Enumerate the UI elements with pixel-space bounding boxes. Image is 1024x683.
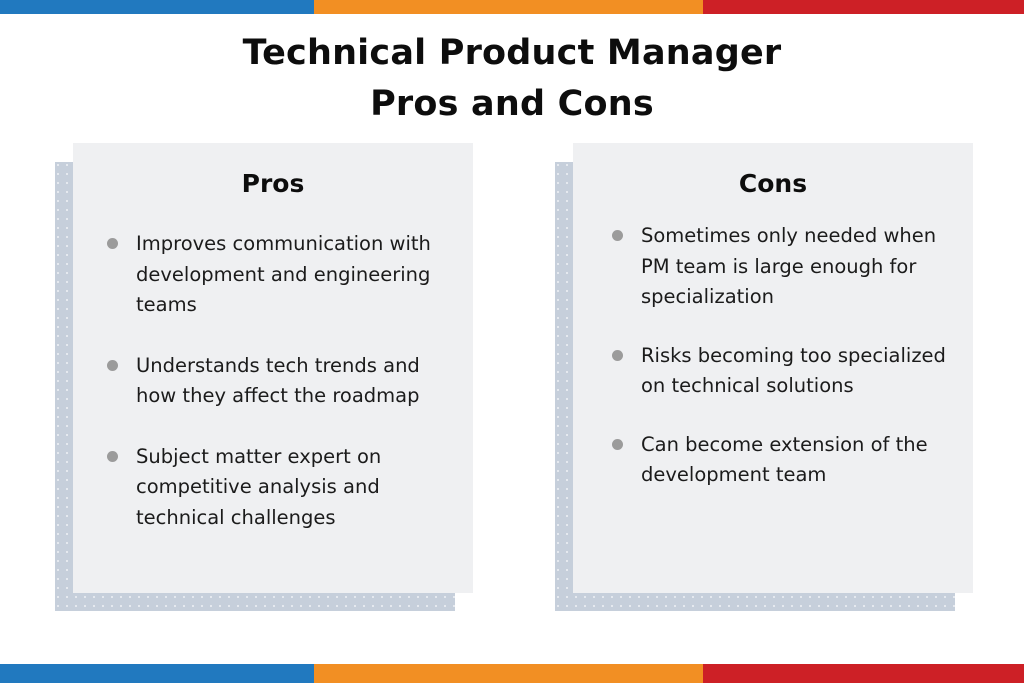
top-bar-red-segment — [703, 0, 1024, 14]
top-bar-orange-segment — [314, 0, 703, 14]
bottom-bar-blue-segment — [0, 664, 314, 683]
list-item: Can become extension of the development … — [606, 430, 958, 491]
pros-bullet-list: Improves communication with development … — [101, 229, 447, 563]
cons-card-body: Cons Sometimes only needed when PM team … — [573, 143, 973, 593]
list-item-label: Understands tech trends and how they aff… — [136, 354, 420, 408]
slide: Technical Product Manager Pros and Cons … — [0, 0, 1024, 683]
list-item: Subject matter expert on competitive ana… — [101, 442, 447, 534]
bullet-dot-icon — [107, 451, 118, 462]
list-item: Sometimes only needed when PM team is la… — [606, 221, 958, 313]
list-item-label: Risks becoming too specialized on techni… — [641, 344, 946, 398]
cons-card: Cons Sometimes only needed when PM team … — [555, 143, 975, 613]
top-bar-blue-segment — [0, 0, 314, 14]
list-item-label: Sometimes only needed when PM team is la… — [641, 224, 936, 308]
list-item: Understands tech trends and how they aff… — [101, 351, 447, 412]
bullet-dot-icon — [612, 230, 623, 241]
list-item-label: Improves communication with development … — [136, 232, 431, 316]
bullet-dot-icon — [107, 238, 118, 249]
list-item-label: Can become extension of the development … — [641, 433, 928, 487]
bullet-dot-icon — [612, 350, 623, 361]
slide-title: Technical Product Manager Pros and Cons — [0, 28, 1024, 130]
slide-title-line-1: Technical Product Manager — [0, 28, 1024, 79]
pros-card-title: Pros — [73, 169, 473, 199]
list-item: Improves communication with development … — [101, 229, 447, 321]
slide-title-line-2: Pros and Cons — [0, 79, 1024, 130]
top-accent-bar — [0, 0, 1024, 14]
cons-bullet-list: Sometimes only needed when PM team is la… — [606, 221, 958, 519]
bottom-bar-orange-segment — [314, 664, 703, 683]
pros-card: Pros Improves communication with develop… — [55, 143, 475, 613]
list-item-label: Subject matter expert on competitive ana… — [136, 445, 381, 529]
cons-card-title: Cons — [573, 169, 973, 199]
bottom-accent-bar — [0, 664, 1024, 683]
list-item: Risks becoming too specialized on techni… — [606, 341, 958, 402]
bullet-dot-icon — [612, 439, 623, 450]
bullet-dot-icon — [107, 360, 118, 371]
pros-card-body: Pros Improves communication with develop… — [73, 143, 473, 593]
bottom-bar-red-segment — [703, 664, 1024, 683]
